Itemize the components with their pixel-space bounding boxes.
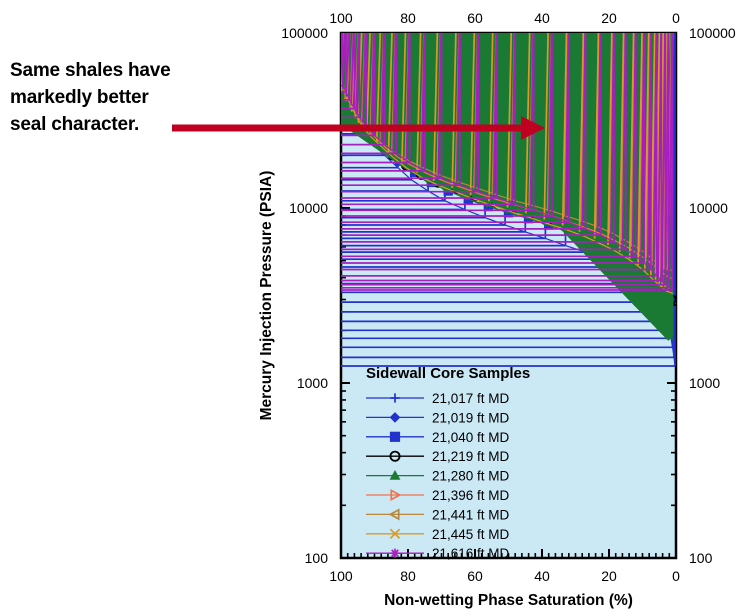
y-tick-label-right: 100	[689, 550, 713, 566]
legend-item-label: 21,040 ft MD	[432, 430, 510, 445]
marker-x	[116, 0, 356, 111]
marker-star	[0, 0, 342, 86]
marker-triangle-up	[96, 0, 346, 96]
marker-star	[0, 0, 366, 126]
marker-star	[390, 549, 399, 558]
x-tick-label-bottom: 40	[534, 568, 550, 584]
marker-plus	[0, 0, 346, 97]
marker-triangle-up	[108, 0, 352, 107]
y-tick-label-right: 100000	[689, 25, 736, 41]
marker-x	[106, 0, 352, 101]
y-tick-label-right: 1000	[689, 375, 720, 391]
y-tick-label-left: 100	[305, 550, 329, 566]
legend-item-label: 21,280 ft MD	[432, 469, 510, 484]
marker-plus	[0, 0, 384, 155]
marker-star	[0, 0, 359, 117]
x-axis-title: Non-wetting Phase Saturation (%)	[384, 592, 633, 609]
y-tick-label-left: 1000	[297, 375, 328, 391]
x-tick-label-bottom: 60	[467, 568, 483, 584]
y-tick-label-left: 10000	[289, 200, 328, 216]
x-tick-label-top: 20	[601, 10, 617, 26]
marker-star	[0, 0, 384, 145]
legend-item-label: 21,017 ft MD	[432, 391, 510, 406]
series-group	[0, 0, 678, 366]
legend-item-label: 21,445 ft MD	[432, 527, 510, 542]
marker-star	[0, 0, 346, 92]
marker-star	[0, 0, 354, 108]
marker-star	[0, 0, 374, 135]
marker-square	[390, 432, 399, 441]
y-tick-label-left: 100000	[281, 25, 328, 41]
legend-item-label: 21,396 ft MD	[432, 488, 510, 503]
x-tick-label-bottom: 80	[400, 568, 416, 584]
y-tick-label-right: 10000	[689, 200, 728, 216]
marker-triangle-up	[86, 0, 343, 85]
marker-plus	[0, 0, 342, 85]
x-tick-label-top: 60	[467, 10, 483, 26]
marker-plus	[0, 0, 366, 134]
legend-item-label: 21,219 ft MD	[432, 449, 510, 464]
x-tick-label-bottom: 0	[672, 568, 680, 584]
marker-x	[127, 0, 363, 122]
x-tick-label-bottom: 100	[329, 568, 353, 584]
x-tick-label-top: 80	[400, 10, 416, 26]
marker-plus	[0, 0, 374, 144]
legend-item-label: 21,616 ft MD	[432, 546, 510, 561]
legend-title: Sidewall Core Samples	[366, 365, 530, 382]
marker-triangle-up	[120, 0, 358, 119]
marker-plus	[0, 0, 351, 108]
y-axis-title: Mercury Injection Pressure (PSIA)	[258, 171, 275, 421]
mercury-injection-chart: 1001008080606040402020001001001000100010…	[0, 0, 750, 615]
x-tick-label-top: 100	[329, 10, 353, 26]
x-tick-label-top: 0	[672, 10, 680, 26]
marker-plus	[0, 0, 357, 122]
x-tick-label-top: 40	[534, 10, 550, 26]
legend-item-label: 21,019 ft MD	[432, 410, 510, 425]
marker-star	[0, 0, 349, 100]
legend-item-label: 21,441 ft MD	[432, 507, 510, 522]
marker-x	[95, 0, 346, 91]
x-tick-label-bottom: 20	[601, 568, 617, 584]
